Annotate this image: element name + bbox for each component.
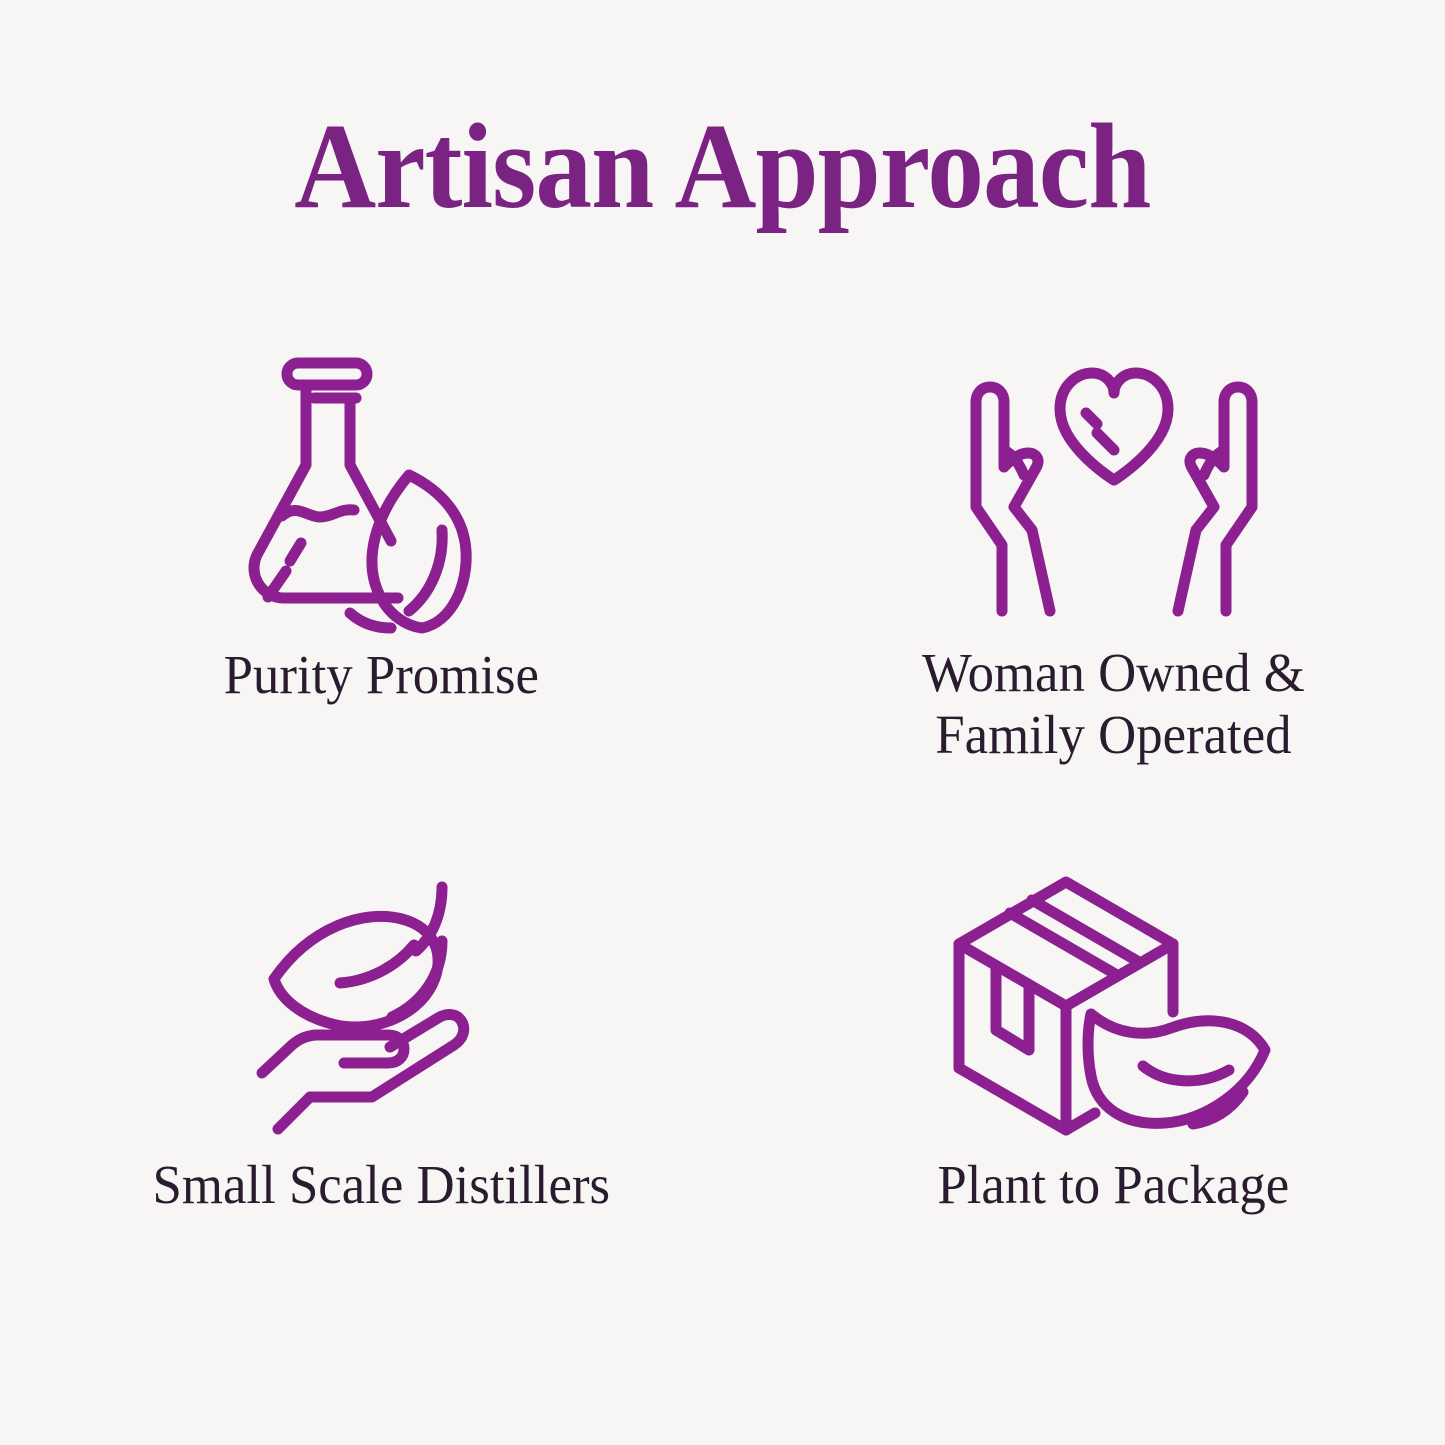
feature-grid: Purity Promise — [0, 340, 1445, 1380]
feature-cell-small-scale-distillers: Small Scale Distillers — [0, 860, 723, 1380]
hand-holding-leaf-icon-container — [221, 860, 541, 1150]
box-leaf-icon-container — [954, 860, 1274, 1150]
flask-leaf-icon — [246, 345, 516, 635]
flask-leaf-icon-container — [221, 340, 541, 640]
feature-label-plant-to-package: Plant to Package — [938, 1154, 1290, 1216]
feature-cell-plant-to-package: Plant to Package — [723, 860, 1445, 1380]
page-title: Artisan Approach — [294, 106, 1150, 228]
feature-label-woman-owned: Woman Owned & Family Operated — [922, 642, 1305, 765]
feature-label-purity-promise: Purity Promise — [224, 644, 539, 706]
feature-cell-woman-owned: Woman Owned & Family Operated — [723, 340, 1445, 860]
feature-label-small-scale-distillers: Small Scale Distillers — [152, 1154, 610, 1216]
hand-holding-leaf-icon — [256, 875, 506, 1135]
page-title-container: Artisan Approach — [0, 106, 1445, 228]
box-leaf-icon — [949, 870, 1279, 1140]
feature-cell-purity-promise: Purity Promise — [0, 340, 723, 860]
artisan-approach-panel: Artisan Approach — [0, 0, 1445, 1445]
hands-holding-heart-icon-container — [954, 340, 1274, 640]
hands-holding-heart-icon — [964, 355, 1264, 625]
